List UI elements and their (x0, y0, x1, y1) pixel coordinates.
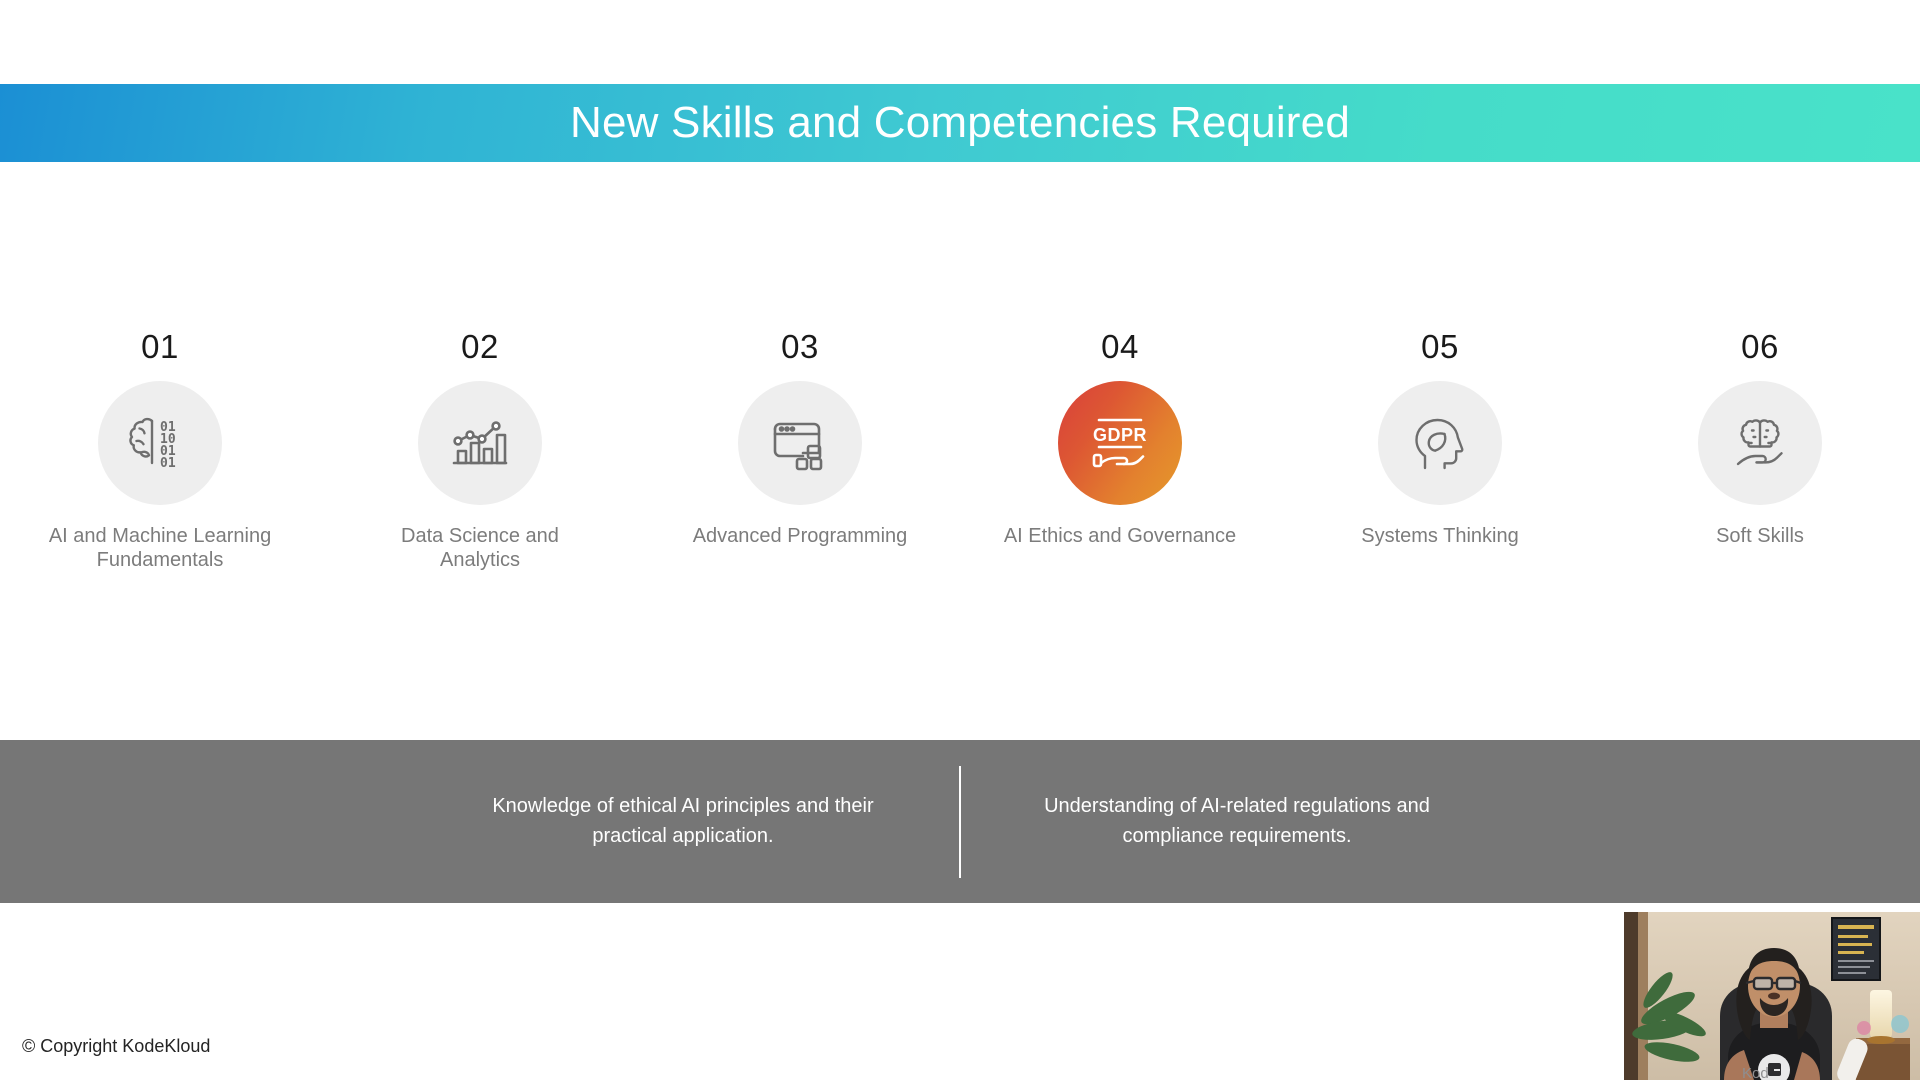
step-number-02: 02 (461, 330, 499, 363)
competency-steps-row: 01 01 10 01 01 AI and Machine Learning F… (0, 330, 1920, 572)
competency-step-01[interactable]: 01 01 10 01 01 AI and Machine Learning F… (0, 330, 320, 572)
competency-step-02[interactable]: 02 Data Science and Analytics (320, 330, 640, 572)
step-label-02: Data Science and Analytics (395, 525, 565, 572)
page-title: New Skills and Competencies Required (570, 101, 1350, 145)
step-number-01: 01 (141, 330, 179, 363)
detail-band: Knowledge of ethical AI principles and t… (0, 740, 1920, 903)
step-label-01: AI and Machine Learning Fundamentals (45, 525, 275, 572)
step-number-03: 03 (781, 330, 819, 363)
step-icon-circle-06 (1698, 381, 1822, 505)
competency-step-05[interactable]: 05 Systems Thinking (1280, 330, 1600, 549)
step-icon-circle-02 (418, 381, 542, 505)
brain-binary-icon: 01 10 01 01 (126, 413, 194, 473)
svg-text:01: 01 (160, 456, 176, 471)
svg-text:Kod: Kod (1742, 1065, 1769, 1080)
presenter-video-overlay[interactable]: Kod (1622, 910, 1920, 1080)
step-icon-circle-01: 01 10 01 01 (98, 381, 222, 505)
competency-step-06[interactable]: 06 Soft Skills (1600, 330, 1920, 549)
step-label-03: Advanced Programming (670, 525, 930, 549)
competency-step-04[interactable]: 04 GDPR AI Ethics and Governance (960, 330, 1280, 549)
step-number-04: 04 (1101, 330, 1139, 363)
detail-band-item-2: Understanding of AI-related regulations … (997, 792, 1477, 851)
head-leaf-icon (1411, 412, 1469, 474)
step-number-06: 06 (1741, 330, 1779, 363)
step-icon-circle-05 (1378, 381, 1502, 505)
detail-band-item-1: Knowledge of ethical AI principles and t… (443, 792, 923, 851)
presenter-video-frame: Kod (1624, 912, 1920, 1080)
step-label-05: Systems Thinking (1310, 525, 1570, 549)
step-number-05: 05 (1421, 330, 1459, 363)
detail-band-divider (959, 766, 961, 878)
copyright-text: © Copyright KodeKloud (22, 1036, 210, 1057)
slide-title-banner: New Skills and Competencies Required (0, 84, 1920, 162)
browser-window-modules-icon (767, 415, 833, 471)
brain-hand-icon (1726, 414, 1794, 472)
step-label-06: Soft Skills (1630, 525, 1890, 549)
competency-step-03[interactable]: 03 Advanced Programming (640, 330, 960, 549)
step-icon-circle-03 (738, 381, 862, 505)
step-icon-circle-04: GDPR (1058, 381, 1182, 505)
bar-chart-trend-icon (448, 413, 512, 473)
step-label-04: AI Ethics and Governance (990, 525, 1250, 549)
gdpr-hand-icon: GDPR (1085, 414, 1155, 472)
svg-text:GDPR: GDPR (1093, 425, 1147, 445)
